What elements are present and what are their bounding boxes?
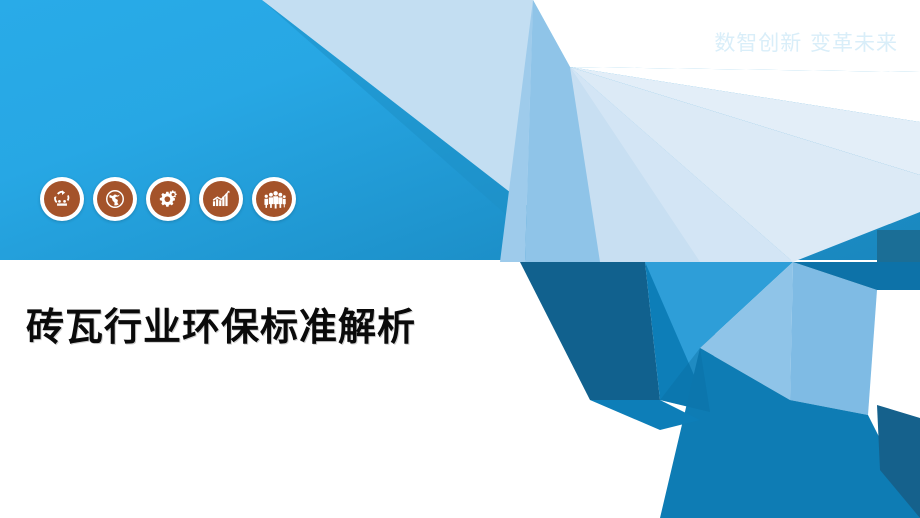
icon-badge-team[interactable] (252, 177, 296, 221)
poly-deep-right-band (877, 230, 920, 262)
icon-badge-bar-chart[interactable] (199, 177, 243, 221)
icon-badge-recycle[interactable] (40, 177, 84, 221)
icon-badge-gears[interactable] (146, 177, 190, 221)
poly-deep-left-slab (520, 262, 660, 400)
icon-row (40, 177, 296, 221)
page-title: 砖瓦行业环保标准解析 (26, 296, 416, 351)
title-slide: 数智创新 变革未来 (0, 0, 920, 518)
recycle-arrow-icon (44, 181, 80, 217)
low-poly-background-art (0, 0, 920, 518)
team-people-icon (256, 181, 292, 217)
gears-icon (150, 181, 186, 217)
bar-chart-icon (203, 181, 239, 217)
globe-icon (97, 181, 133, 217)
icon-badge-globe[interactable] (93, 177, 137, 221)
tagline: 数智创新 变革未来 (714, 27, 898, 57)
poly-deep-right-lower (877, 262, 920, 290)
